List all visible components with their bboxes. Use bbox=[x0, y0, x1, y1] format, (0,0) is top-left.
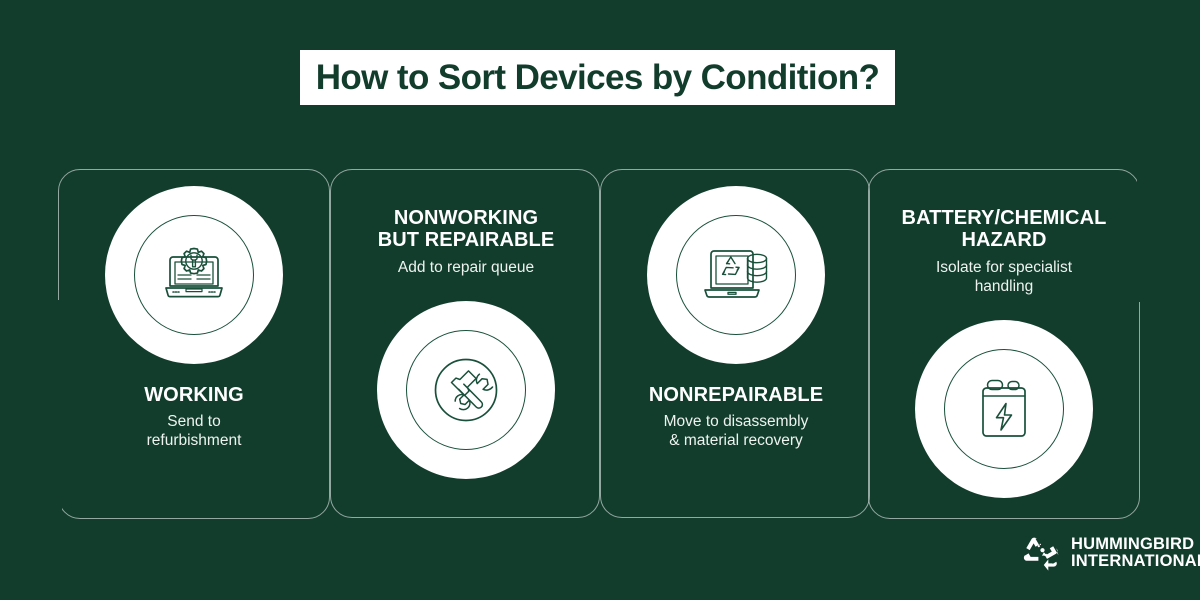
battery-hazard-icon bbox=[944, 349, 1064, 469]
card-nonrepairable: NONREPAIRABLE Move to disassembly & mate… bbox=[600, 186, 872, 451]
card-nonworking-title-line2: BUT REPAIRABLE bbox=[378, 229, 555, 251]
card-battery-desc-line1: Isolate for specialist bbox=[936, 259, 1072, 276]
card-working-desc-line1: Send to bbox=[167, 413, 220, 430]
infographic-canvas: How to Sort Devices by Condition? bbox=[0, 0, 1200, 600]
frame-mask-right bbox=[1137, 150, 1200, 302]
card-nonworking-texts: NONWORKING BUT REPAIRABLE Add to repair … bbox=[330, 207, 602, 278]
frame-mask-left bbox=[0, 300, 62, 540]
icon-disc-battery bbox=[915, 320, 1093, 498]
card-battery-title: BATTERY/CHEMICAL HAZARD bbox=[868, 207, 1140, 252]
brand-name-line1: HUMMINGBIRD bbox=[1071, 536, 1200, 553]
card-working-desc-line2: refurbishment bbox=[147, 432, 242, 449]
card-nonworking-title: NONWORKING BUT REPAIRABLE bbox=[330, 207, 602, 252]
card-battery-title-line1: BATTERY/CHEMICAL bbox=[902, 207, 1107, 229]
card-working-desc: Send to refurbishment bbox=[58, 413, 330, 451]
card-battery-desc: Isolate for specialist handling bbox=[868, 259, 1140, 297]
card-working: WORKING Send to refurbishment bbox=[58, 186, 330, 451]
brand-logo-text: HUMMINGBIRD INTERNATIONAL bbox=[1071, 536, 1200, 570]
card-nonrepairable-desc: Move to disassembly & material recovery bbox=[600, 413, 872, 451]
card-working-title: WORKING bbox=[58, 384, 330, 406]
card-nonrepairable-texts: NONREPAIRABLE Move to disassembly & mate… bbox=[600, 384, 872, 451]
page-title: How to Sort Devices by Condition? bbox=[316, 58, 880, 98]
card-battery-hazard: BATTERY/CHEMICAL HAZARD Isolate for spec… bbox=[868, 207, 1140, 498]
laptop-gear-wrench-icon bbox=[134, 215, 254, 335]
page-title-banner: How to Sort Devices by Condition? bbox=[300, 50, 895, 105]
card-battery-texts: BATTERY/CHEMICAL HAZARD Isolate for spec… bbox=[868, 207, 1140, 297]
laptop-recycle-materials-icon bbox=[676, 215, 796, 335]
recycling-hummingbird-icon bbox=[1022, 533, 1062, 573]
card-nonrepairable-desc-line1: Move to disassembly bbox=[664, 413, 809, 430]
brand-name-line2: INTERNATIONAL bbox=[1071, 553, 1200, 570]
icon-disc-working bbox=[105, 186, 283, 364]
frame-mask-corner bbox=[56, 150, 64, 172]
brand-logo: HUMMINGBIRD INTERNATIONAL bbox=[1022, 533, 1200, 573]
hammer-wrench-circle-icon bbox=[406, 330, 526, 450]
card-battery-desc-line2: handling bbox=[975, 278, 1034, 295]
card-nonworking-desc: Add to repair queue bbox=[330, 259, 602, 278]
card-nonrepairable-desc-line2: & material recovery bbox=[669, 432, 803, 449]
card-nonworking-repairable: NONWORKING BUT REPAIRABLE Add to repair … bbox=[330, 207, 602, 479]
card-working-texts: WORKING Send to refurbishment bbox=[58, 384, 330, 451]
icon-disc-nonworking bbox=[377, 301, 555, 479]
card-battery-title-line2: HAZARD bbox=[961, 229, 1046, 251]
card-nonrepairable-title: NONREPAIRABLE bbox=[600, 384, 872, 406]
card-nonworking-title-line1: NONWORKING bbox=[394, 207, 538, 229]
icon-disc-nonrepairable bbox=[647, 186, 825, 364]
